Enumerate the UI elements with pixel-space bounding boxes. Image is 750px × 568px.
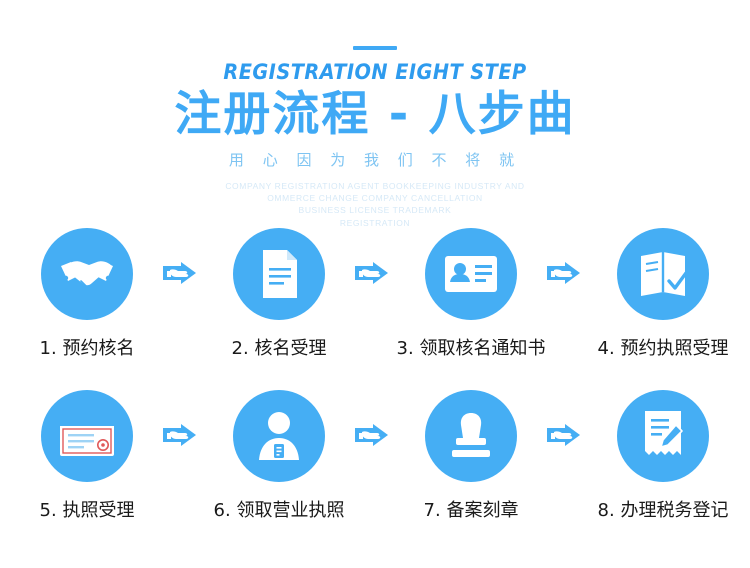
step-5[interactable]: 5. 执照受理 xyxy=(14,390,160,522)
english-line-1: COMPANY REGISTRATION AGENT BOOKKEEPING I… xyxy=(0,180,750,192)
step-3-label: 3. 领取核名通知书 xyxy=(397,334,546,360)
step-4-label: 4. 预约执照受理 xyxy=(598,334,729,360)
step-4[interactable]: 4. 预约执照受理 xyxy=(590,228,736,360)
step-8-label: 8. 办理税务登记 xyxy=(598,496,729,522)
step-3[interactable]: 3. 领取核名通知书 xyxy=(398,228,544,360)
pointing-hand-arrow-icon xyxy=(547,261,587,287)
step-3-circle xyxy=(425,228,517,320)
person-badge-icon xyxy=(255,410,303,462)
arrow-4 xyxy=(160,390,206,482)
step-1[interactable]: 1. 预约核名 xyxy=(14,228,160,360)
title-accent-bar xyxy=(353,46,397,50)
tax-form-icon xyxy=(640,409,686,463)
step-4-circle xyxy=(617,228,709,320)
subtitle-text: 用 心 因 为 我 们 不 将 就 xyxy=(0,149,750,170)
arrow-1 xyxy=(160,228,206,320)
step-2-label: 2. 核名受理 xyxy=(232,334,327,360)
step-2[interactable]: 2. 核名受理 xyxy=(206,228,352,360)
step-1-label: 1. 预约核名 xyxy=(40,334,135,360)
poster-canvas: REGISTRATION EIGHT STEP 注册流程 - 八步曲 用 心 因… xyxy=(0,0,750,568)
stamp-icon xyxy=(448,410,494,462)
step-5-label: 5. 执照受理 xyxy=(40,496,135,522)
step-7[interactable]: 7. 备案刻章 xyxy=(398,390,544,522)
english-line-2: OMMERCE CHANGE COMPANY CANCELLATION xyxy=(0,192,750,204)
page-title: 注册流程 - 八步曲 xyxy=(0,90,750,141)
step-1-circle xyxy=(41,228,133,320)
step-6-circle xyxy=(233,390,325,482)
handshake-icon xyxy=(59,253,115,295)
english-line-3: BUSINESS LICENSE TRADEMARK xyxy=(0,204,750,216)
arrow-2 xyxy=(352,228,398,320)
steps-row-2: 5. 执照受理 xyxy=(0,390,750,522)
pointing-hand-arrow-icon xyxy=(547,423,587,449)
pointing-hand-arrow-icon xyxy=(355,423,395,449)
pointing-hand-arrow-icon xyxy=(355,261,395,287)
step-8[interactable]: 8. 办理税务登记 xyxy=(590,390,736,522)
id-card-icon xyxy=(443,253,499,295)
arrow-6 xyxy=(544,390,590,482)
step-7-circle xyxy=(425,390,517,482)
step-2-circle xyxy=(233,228,325,320)
steps-container: 1. 预约核名 xyxy=(0,228,750,524)
english-caption: COMPANY REGISTRATION AGENT BOOKKEEPING I… xyxy=(0,180,750,229)
business-license-icon xyxy=(58,414,116,458)
arrow-5 xyxy=(352,390,398,482)
step-8-circle xyxy=(617,390,709,482)
step-6[interactable]: 6. 领取营业执照 xyxy=(206,390,352,522)
steps-row-1: 1. 预约核名 xyxy=(0,228,750,360)
document-icon xyxy=(257,248,301,300)
header: REGISTRATION EIGHT STEP 注册流程 - 八步曲 用 心 因… xyxy=(0,0,750,229)
books-check-icon xyxy=(637,250,689,298)
arrow-3 xyxy=(544,228,590,320)
step-6-label: 6. 领取营业执照 xyxy=(214,496,345,522)
step-5-circle xyxy=(41,390,133,482)
pointing-hand-arrow-icon xyxy=(163,261,203,287)
eyebrow-text: REGISTRATION EIGHT STEP xyxy=(30,60,720,84)
step-7-label: 7. 备案刻章 xyxy=(424,496,519,522)
pointing-hand-arrow-icon xyxy=(163,423,203,449)
